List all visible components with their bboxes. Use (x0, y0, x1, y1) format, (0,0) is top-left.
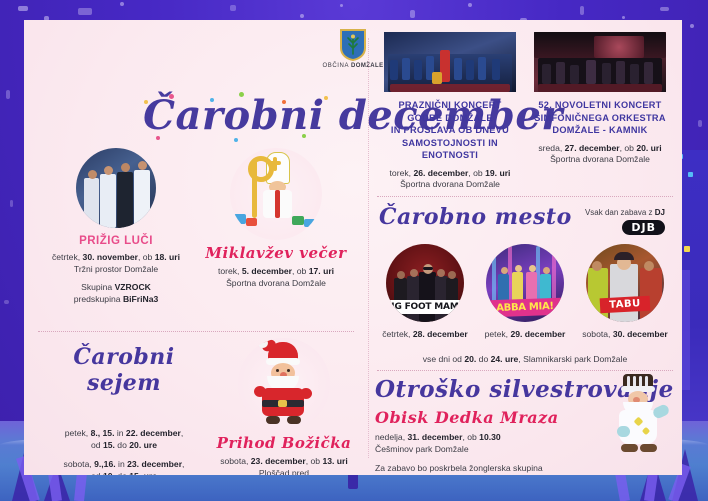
event-carobni-sejem: Čarobni sejem petek, 8., 15. in 22. dece… (38, 344, 210, 475)
carobni-sejem-row2: sobota, 9.,16. in 23. december, (38, 459, 210, 471)
big-foot-mama-photo: BIG FOOT MAMA (386, 244, 464, 322)
act-poster-label: ABBA MIA! (486, 298, 564, 318)
event-prizig-luci: PRIŽIG LUČI četrtek, 30. november, ob 18… (46, 148, 186, 305)
title-line: SAMOSTOJNOSTI IN ENOTNOSTI (377, 137, 523, 162)
act-tabu: TABU sobota, 30. december (577, 244, 673, 341)
section-otrosko-silvestrovanje: Otroško silvestrovanje Obisk Dedka Mraza… (375, 376, 675, 475)
novoletni-koncert-venue: Športna dvorana Domžale (527, 154, 673, 166)
title-line: GODBE DOMŽALE (377, 112, 523, 125)
tabu-photo: TABU (586, 244, 664, 322)
carobno-mesto-footer: vse dni od 20. do 24. ure, Slamnikarski … (375, 354, 675, 366)
praznicni-koncert-venue: Športna dvorana Domžale (377, 179, 523, 191)
band-photo-vzrock (76, 148, 156, 228)
prihod-bozicka-venue-1: Ploščad pred (210, 468, 358, 476)
prizig-luci-support: predskupina BiFriNa3 (46, 294, 186, 306)
event-miklavzev-vecer: Miklavžev večer torek, 5. december, ob 1… (202, 148, 350, 289)
carobni-sejem-row1-hours: od 15. do 20. ure (38, 440, 210, 452)
prizig-luci-group: Skupina VZROCK (46, 282, 186, 294)
act-date-0: četrtek, 28. december (377, 329, 473, 341)
saint-nicholas-illustration (230, 148, 322, 240)
dj-note-text: Vsak dan zabava z (585, 208, 655, 217)
left-column: PRIŽIG LUČI četrtek, 30. november, ob 18… (24, 20, 369, 475)
right-column: PRAZNIČNI KONCERT GODBE DOMŽALE IN PROSL… (369, 20, 682, 475)
act-big-foot-mama: BIG FOOT MAMA četrtek, 28. december (377, 244, 473, 341)
praznicni-koncert-title: PRAZNIČNI KONCERT GODBE DOMŽALE IN PROSL… (377, 99, 523, 162)
abba-mia-photo: ABBA MIA! (486, 244, 564, 322)
prihod-bozicka-title: Prihod Božička (210, 434, 358, 452)
title-line: PRAZNIČNI KONCERT (377, 99, 523, 112)
godba-domzale-concert-photo (384, 32, 516, 92)
praznicni-koncert-datetime: torek, 26. december, ob 19. uri (377, 168, 523, 180)
dj-note: Vsak dan zabava z DJ DJB (585, 208, 665, 236)
poster-card: OBČINA DOMŽALE Čarobni december PRI (24, 20, 682, 475)
otrosko-note-1: Za zabavo bo poskrbela žonglerska skupin… (375, 463, 675, 475)
miklavzev-vecer-title: Miklavžev večer (202, 244, 350, 262)
carobni-sejem-row2-hours: od 10. do 15. ure (38, 471, 210, 476)
carobni-sejem-row1: petek, 8., 15. in 22. december, (38, 428, 210, 440)
carobni-sejem-title: Čarobni sejem (38, 344, 210, 396)
divider-left (38, 331, 354, 332)
act-date-1: petek, 29. december (477, 329, 573, 341)
dj-note-bold: DJ (655, 208, 665, 217)
divider-right-2 (377, 370, 673, 371)
dj-badge: DJB (622, 220, 665, 235)
carobno-mesto-title: Čarobno mesto (379, 204, 572, 230)
act-poster-label: BIG FOOT MAMA (386, 300, 464, 314)
dedek-mraz-illustration (605, 374, 671, 456)
act-abba-mia: ABBA MIA! petek, 29. december (477, 244, 573, 341)
prizig-luci-title: PRIŽIG LUČI (46, 235, 186, 247)
divider-right-1 (377, 196, 673, 197)
prihod-bozicka-datetime: sobota, 23. december, ob 13. uri (210, 456, 358, 468)
symphony-orchestra-photo (534, 32, 666, 92)
otrosko-note-2: Čupakabra s cirkuško predstavo Trije škr… (375, 475, 675, 476)
prizig-luci-datetime: četrtek, 30. november, ob 18. uri (46, 252, 186, 264)
novoletni-koncert-datetime: sreda, 27. december, ob 20. uri (527, 143, 673, 155)
event-prihod-bozicka: Prihod Božička sobota, 23. december, ob … (210, 338, 358, 475)
title-line: IN PROSLAVA OB DNEVU (377, 124, 523, 137)
act-poster-label: TABU (600, 296, 651, 314)
title-line: 52. NOVOLETNI KONCERT (527, 99, 673, 112)
santa-claus-illustration (238, 338, 330, 430)
title-line: SIMFONIČNEGA ORKESTRA (527, 112, 673, 125)
novoletni-koncert-title: 52. NOVOLETNI KONCERT SIMFONIČNEGA ORKES… (527, 99, 673, 137)
miklavzev-vecer-datetime: torek, 5. december, ob 17. uri (202, 266, 350, 278)
event-novoletni-koncert: 52. NOVOLETNI KONCERT SIMFONIČNEGA ORKES… (527, 32, 673, 166)
title-line: DOMŽALE - KAMNIK (527, 124, 673, 137)
event-praznicni-koncert: PRAZNIČNI KONCERT GODBE DOMŽALE IN PROSL… (377, 32, 523, 191)
miklavzev-vecer-venue: Športna dvorana Domžale (202, 278, 350, 290)
act-date-2: sobota, 30. december (577, 329, 673, 341)
prizig-luci-venue: Tržni prostor Domžale (46, 264, 186, 276)
